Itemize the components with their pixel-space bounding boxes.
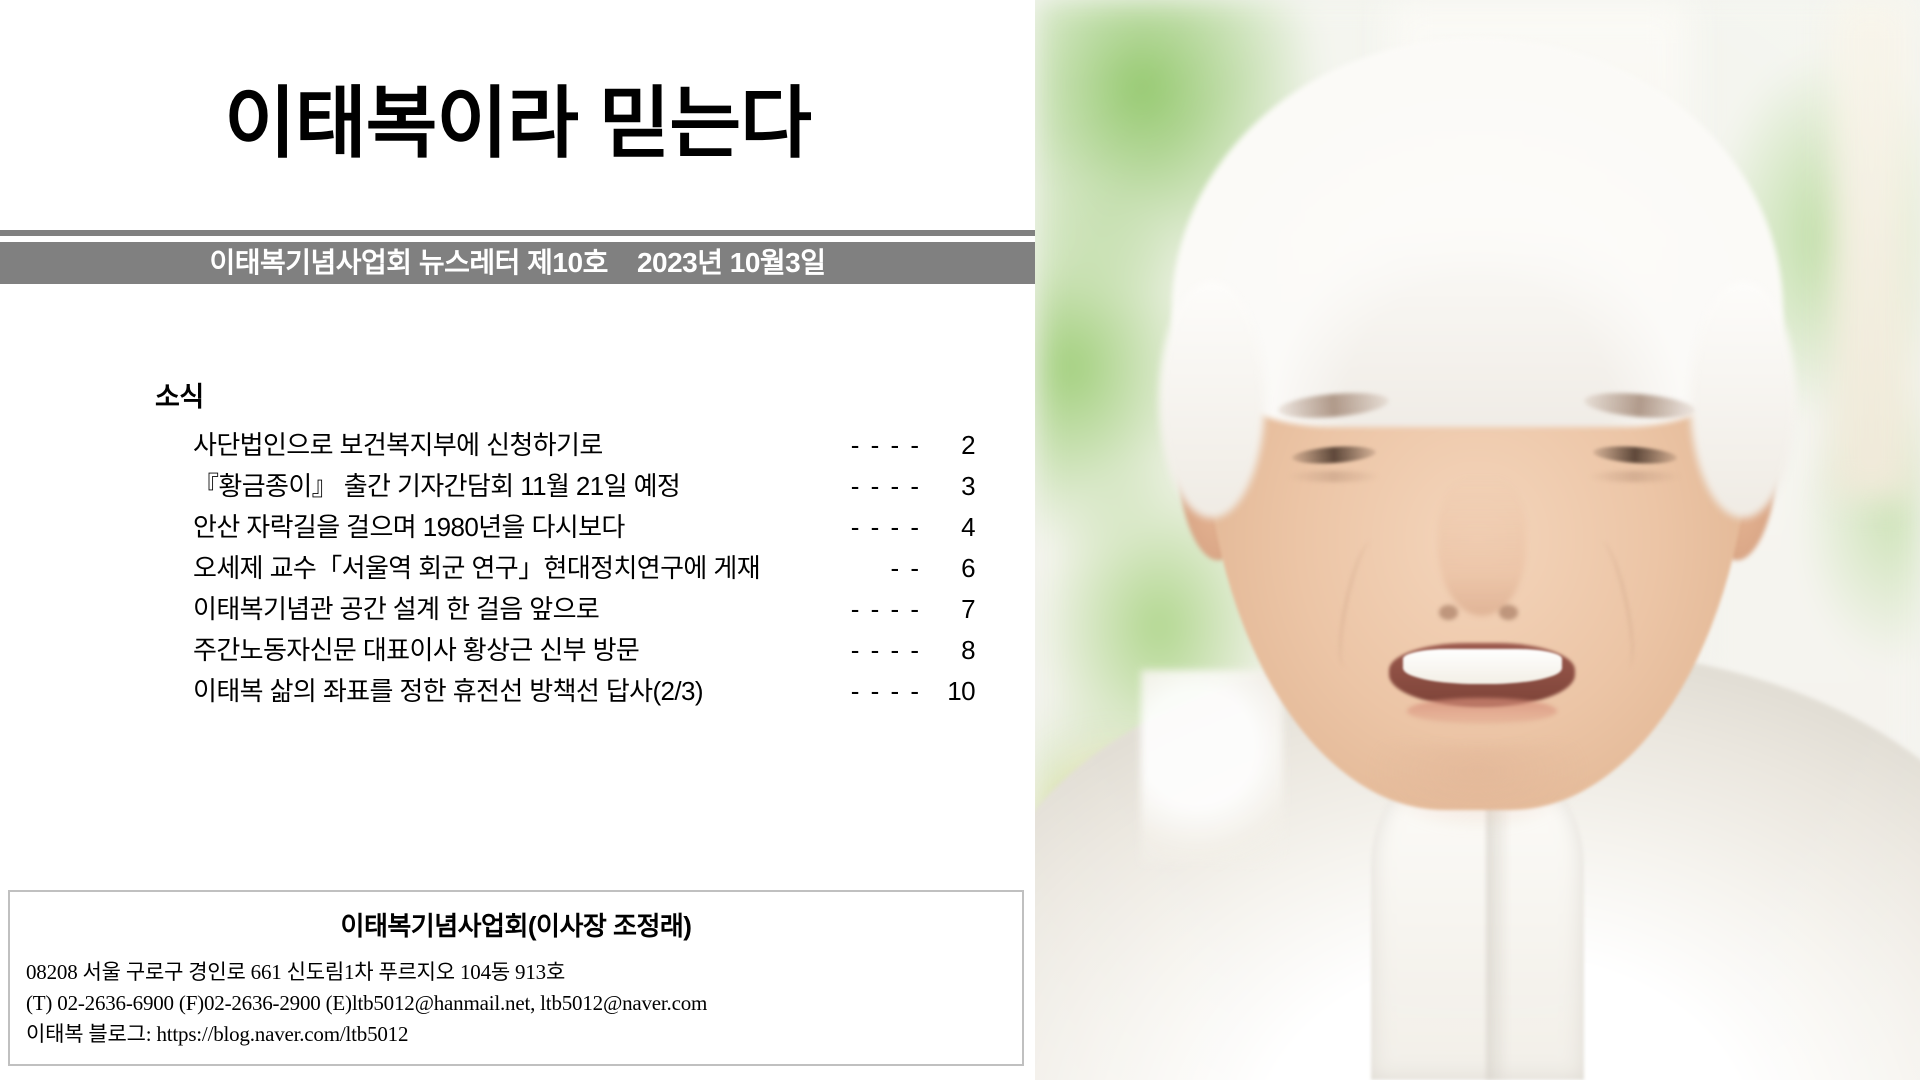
- footer-contact-line: (T) 02-2636-6900 (F)02-2636-2900 (E)ltb5…: [26, 988, 1006, 1019]
- list-item[interactable]: 『황금종이』 출간 기자간담회 11월 21일 예정 - - - - 3: [193, 466, 975, 507]
- photo-crochet-doily: [1141, 670, 1283, 864]
- masthead-banner: 이태복기념사업회 뉴스레터 제10호 2023년 10월3일: [0, 242, 1035, 284]
- toc-page-number: 2: [931, 430, 975, 461]
- photo-teeth: [1403, 649, 1562, 684]
- toc-page-number: 4: [931, 512, 975, 543]
- banner-issue-text: 이태복기념사업회 뉴스레터 제10호 2023년 10월3일: [209, 249, 825, 277]
- portrait-photo: [1035, 0, 1920, 1080]
- toc-item-label: 안산 자락길을 걸으며 1980년을 다시보다: [193, 507, 625, 544]
- photo-nostril-left: [1439, 605, 1458, 620]
- toc-item-label: 『황금종이』 출간 기자간담회 11월 21일 예정: [193, 466, 680, 503]
- photo-lower-lip: [1407, 698, 1557, 724]
- photo-nostril-right: [1499, 605, 1518, 620]
- toc-page-number: 10: [931, 676, 975, 707]
- photo-hair-side-left: [1159, 281, 1265, 519]
- list-item[interactable]: 안산 자락길을 걸으며 1980년을 다시보다 - - - - 4: [193, 507, 975, 548]
- toc-dot-leader: - - - -: [851, 512, 931, 543]
- footer-address: 08208 서울 구로구 경인로 661 신도림1차 푸르지오 104동 913…: [26, 957, 1006, 988]
- toc-item-label: 이태복 삶의 좌표를 정한 휴전선 방책선 답사(2/3): [193, 671, 703, 708]
- toc-dot-leader: - - - -: [851, 594, 931, 625]
- list-item[interactable]: 오세제 교수「서울역 회군 연구」현대정치연구에 게재 - - 6: [193, 548, 975, 589]
- photo-shirt-placket: [1486, 799, 1509, 1080]
- toc-page-number: 8: [931, 635, 975, 666]
- table-of-contents: 소식 사단법인으로 보건복지부에 신청하기로 - - - - 2 『황금종이』 …: [155, 375, 975, 712]
- toc-dot-leader: - - - -: [851, 430, 931, 461]
- photo-wall-panel-right: [1832, 0, 1912, 497]
- toc-item-label: 사단법인으로 보건복지부에 신청하기로: [193, 425, 603, 462]
- footer-organization-name: 이태복기념사업회(이사장 조정래): [26, 906, 1006, 943]
- toc-page-number: 6: [931, 553, 975, 584]
- photo-eye-crease-left: [1287, 471, 1380, 482]
- toc-page-number: 3: [931, 471, 975, 502]
- toc-dot-leader: - - - -: [851, 471, 931, 502]
- left-text-column: 이태복이라 믿는다 이태복기념사업회 뉴스레터 제10호 2023년 10월3일…: [0, 0, 1035, 1080]
- toc-item-label: 이태복기념관 공간 설계 한 걸음 앞으로: [193, 589, 599, 626]
- toc-list: 사단법인으로 보건복지부에 신청하기로 - - - - 2 『황금종이』 출간 …: [155, 425, 975, 712]
- list-item[interactable]: 이태복 삶의 좌표를 정한 휴전선 방책선 답사(2/3) - - - - 10: [193, 671, 975, 712]
- footer-blog-line: 이태복 블로그: https://blog.naver.com/ltb5012: [26, 1019, 1006, 1050]
- toc-dot-leader: - -: [890, 553, 931, 584]
- banner-top-rule: [0, 230, 1035, 236]
- photo-chin: [1371, 745, 1583, 831]
- footer-contact-box: 이태복기념사업회(이사장 조정래) 08208 서울 구로구 경인로 661 신…: [8, 890, 1024, 1066]
- newsletter-cover-page: 이태복이라 믿는다 이태복기념사업회 뉴스레터 제10호 2023년 10월3일…: [0, 0, 1920, 1080]
- list-item[interactable]: 이태복기념관 공간 설계 한 걸음 앞으로 - - - - 7: [193, 589, 975, 630]
- photo-nose: [1438, 475, 1527, 615]
- photo-hair-side-right: [1690, 281, 1796, 519]
- page-title: 이태복이라 믿는다: [0, 84, 1035, 162]
- list-item[interactable]: 사단법인으로 보건복지부에 신청하기로 - - - - 2: [193, 425, 975, 466]
- toc-item-label: 오세제 교수「서울역 회군 연구」현대정치연구에 게재: [193, 548, 760, 585]
- list-item[interactable]: 주간노동자신문 대표이사 황상근 신부 방문 - - - - 8: [193, 630, 975, 671]
- photo-eye-crease-right: [1588, 471, 1681, 482]
- toc-section-heading: 소식: [155, 375, 975, 414]
- toc-item-label: 주간노동자신문 대표이사 황상근 신부 방문: [193, 630, 639, 667]
- toc-page-number: 7: [931, 594, 975, 625]
- toc-dot-leader: - - - -: [851, 635, 931, 666]
- toc-dot-leader: - - - -: [851, 676, 931, 707]
